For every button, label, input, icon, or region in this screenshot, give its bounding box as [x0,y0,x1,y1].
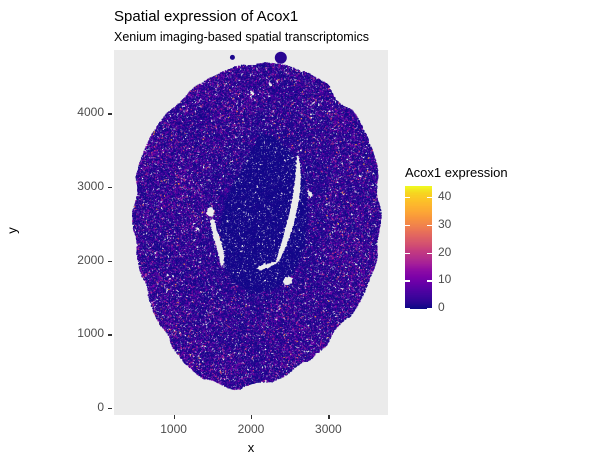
page-title: Spatial expression of Acox1 [114,8,298,25]
colorbar-tick-label: 10 [438,272,451,286]
colorbar-tick [405,197,410,198]
legend-title: Acox1 expression [405,165,534,180]
y-tick-mark [108,187,112,188]
legend: Acox1 expression 403020100 [404,165,534,316]
x-tick-mark [251,415,252,419]
colorbar-tick [405,253,410,254]
colorbar-tick [427,280,432,281]
y-tick-label: 2000 [52,253,104,267]
colorbar-tick-label: 0 [438,300,445,314]
y-tick-label: 1000 [52,326,104,340]
x-tick-label: 2000 [221,422,281,436]
colorbar-tick-label: 40 [438,189,451,203]
plot-subtitle: Xenium imaging-based spatial transcripto… [114,30,369,44]
colorbar-tick-label: 30 [438,217,451,231]
y-tick-mark [108,113,112,114]
colorbar-tick [427,225,432,226]
colorbar-tick-label: 20 [438,245,451,259]
x-tick-label: 1000 [144,422,204,436]
y-tick-mark [108,334,112,335]
colorbar-tick [427,197,432,198]
y-tick-label: 0 [52,400,104,414]
x-axis-title: x [114,440,388,455]
y-axis-title: y [5,201,20,261]
x-tick-mark [174,415,175,419]
plot-panel [114,50,388,415]
y-tick-mark [108,261,112,262]
colorbar-tick [405,308,410,309]
spatial-expression-plot: Spatial expression of Acox1 Xenium imagi… [0,0,600,460]
y-tick-mark [108,408,112,409]
colorbar-tick [405,280,410,281]
colorbar-gradient [405,186,432,309]
y-tick-label: 3000 [52,179,104,193]
y-tick-label: 4000 [52,105,104,119]
colorbar-tick [427,308,432,309]
colorbar-tick [427,253,432,254]
legend-body: 403020100 [404,186,534,316]
x-tick-mark [328,415,329,419]
colorbar-tick [405,225,410,226]
spatial-scatter-canvas [114,50,388,415]
colorbar [405,186,432,309]
x-tick-label: 3000 [298,422,358,436]
